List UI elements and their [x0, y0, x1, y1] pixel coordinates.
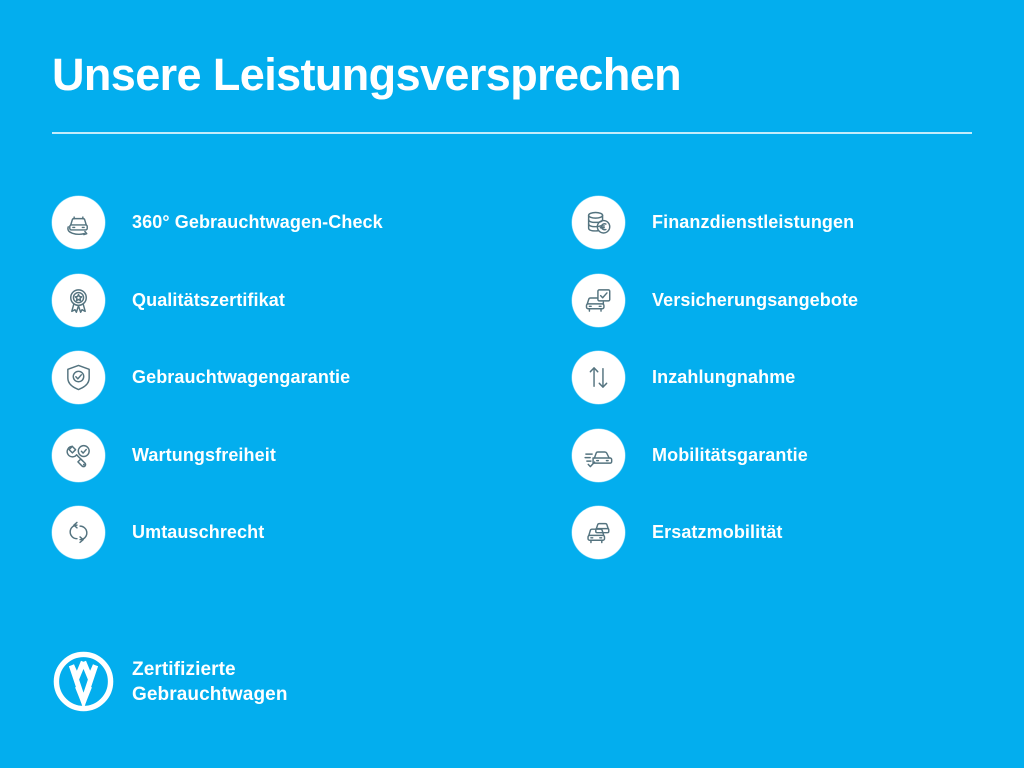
feature-label: Ersatzmobilität — [652, 506, 783, 559]
slide-canvas: Unsere Leistungsversprechen 360° Gebrauc… — [0, 0, 1024, 768]
feature-item-finanzdienstleistungen[interactable]: Finanzdienstleistungen — [572, 196, 1024, 274]
volkswagen-logo-icon — [52, 650, 115, 713]
features-grid: 360° Gebrauchtwagen-Check Qualitätszerti… — [0, 196, 1024, 566]
feature-item-umtauschrecht[interactable]: Umtauschrecht — [52, 506, 512, 584]
car-360-check-icon — [52, 196, 105, 249]
brand-line-1: Zertifizierte — [132, 657, 288, 682]
feature-item-ersatzmobilitaet[interactable]: Ersatzmobilität — [572, 506, 1024, 584]
wrench-check-icon — [52, 429, 105, 482]
feature-label: Gebrauchtwagengarantie — [132, 351, 350, 404]
features-right-column: Finanzdienstleistungen Versicherungsange… — [572, 196, 1024, 584]
car-document-check-icon — [572, 274, 625, 327]
feature-item-inzahlungnahme[interactable]: Inzahlungnahme — [572, 351, 1024, 429]
feature-label: Umtauschrecht — [132, 506, 264, 559]
feature-item-wartungsfreiheit[interactable]: Wartungsfreiheit — [52, 429, 512, 507]
features-left-column: 360° Gebrauchtwagen-Check Qualitätszerti… — [52, 196, 512, 584]
feature-label: Finanzdienstleistungen — [652, 196, 854, 249]
page-title: Unsere Leistungsversprechen — [52, 48, 972, 102]
exchange-arrows-icon — [52, 506, 105, 559]
feature-label: Wartungsfreiheit — [132, 429, 276, 482]
coins-euro-icon — [572, 196, 625, 249]
up-down-arrows-icon — [572, 351, 625, 404]
quality-award-icon — [52, 274, 105, 327]
feature-item-qualitaetszertifikat[interactable]: Qualitätszertifikat — [52, 274, 512, 352]
shield-check-icon — [52, 351, 105, 404]
feature-label: Qualitätszertifikat — [132, 274, 285, 327]
feature-label: Mobilitätsgarantie — [652, 429, 808, 482]
feature-item-gebrauchtwagengarantie[interactable]: Gebrauchtwagengarantie — [52, 351, 512, 429]
feature-item-versicherungsangebote[interactable]: Versicherungsangebote — [572, 274, 1024, 352]
car-speed-icon — [572, 429, 625, 482]
feature-label: 360° Gebrauchtwagen-Check — [132, 196, 383, 249]
two-cars-icon — [572, 506, 625, 559]
title-divider — [52, 132, 972, 134]
brand-footer: Zertifizierte Gebrauchtwagen — [52, 650, 288, 713]
brand-text: Zertifizierte Gebrauchtwagen — [132, 657, 288, 707]
feature-label: Inzahlungnahme — [652, 351, 795, 404]
header: Unsere Leistungsversprechen — [52, 48, 972, 102]
feature-item-gebrauchtwagen-check[interactable]: 360° Gebrauchtwagen-Check — [52, 196, 512, 274]
feature-label: Versicherungsangebote — [652, 274, 858, 327]
feature-item-mobilitaetsgarantie[interactable]: Mobilitätsgarantie — [572, 429, 1024, 507]
brand-line-2: Gebrauchtwagen — [132, 682, 288, 707]
